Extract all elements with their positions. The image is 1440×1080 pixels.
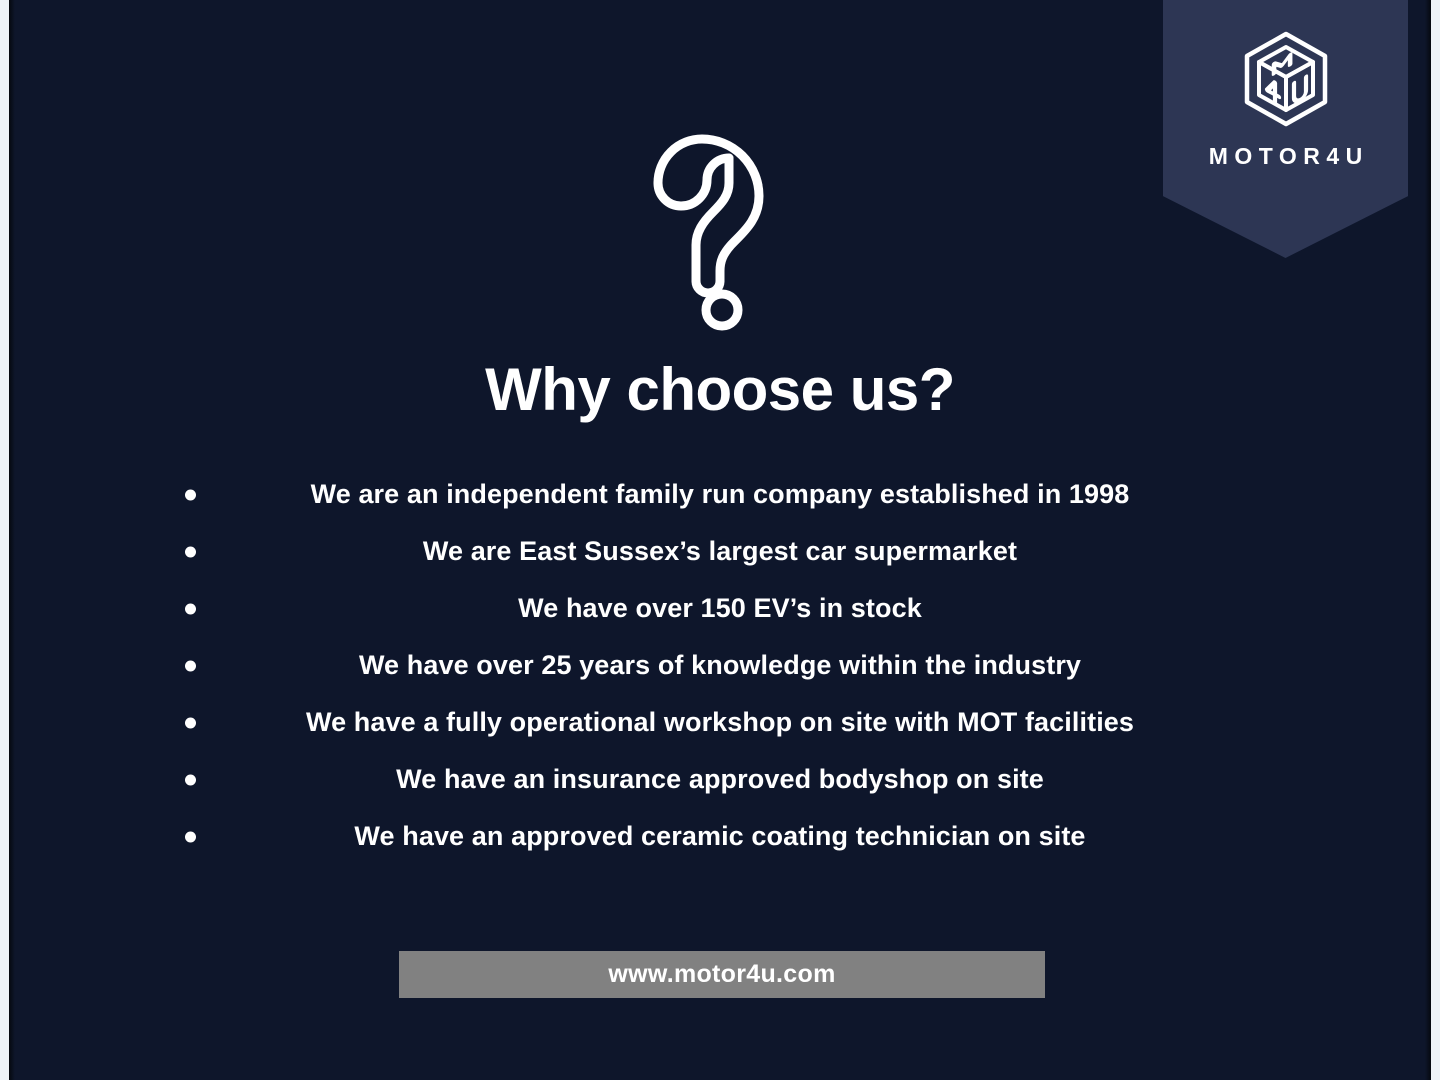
logo-wordmark: MOTOR4U — [1163, 143, 1408, 170]
bullet-dot-icon — [185, 489, 196, 500]
bullet-dot-icon — [185, 831, 196, 842]
bullet-dot-icon — [185, 603, 196, 614]
list-item-label: We have over 25 years of knowledge withi… — [359, 650, 1081, 681]
list-item-label: We have an approved ceramic coating tech… — [354, 821, 1085, 852]
list-item: We are East Sussex’s largest car superma… — [0, 523, 1440, 580]
bullet-dot-icon — [185, 660, 196, 671]
list-item-label: We are an independent family run company… — [311, 479, 1130, 510]
list-item-label: We have a fully operational workshop on … — [306, 707, 1134, 738]
list-item: We have an insurance approved bodyshop o… — [0, 751, 1440, 808]
list-item: We have a fully operational workshop on … — [0, 694, 1440, 751]
list-item-label: We have an insurance approved bodyshop o… — [396, 764, 1044, 795]
list-item: We are an independent family run company… — [0, 466, 1440, 523]
list-item: We have an approved ceramic coating tech… — [0, 808, 1440, 865]
list-item-label: We are East Sussex’s largest car superma… — [423, 536, 1017, 567]
slide-canvas: MOTOR4U Why choose us? We are an indepen… — [0, 0, 1440, 1080]
benefits-list: We are an independent family run company… — [0, 466, 1440, 865]
website-url-label: www.motor4u.com — [608, 960, 835, 989]
logo-banner: MOTOR4U — [1163, 0, 1408, 258]
list-item: We have over 25 years of knowledge withi… — [0, 637, 1440, 694]
bullet-dot-icon — [185, 546, 196, 557]
list-item: We have over 150 EV’s in stock — [0, 580, 1440, 637]
question-mark-icon — [645, 95, 805, 335]
list-item-label: We have over 150 EV’s in stock — [518, 593, 922, 624]
bullet-dot-icon — [185, 774, 196, 785]
bullet-dot-icon — [185, 717, 196, 728]
website-bar[interactable]: www.motor4u.com — [399, 951, 1045, 998]
cube-logo-icon — [1240, 30, 1332, 130]
page-title: Why choose us? — [0, 355, 1440, 424]
